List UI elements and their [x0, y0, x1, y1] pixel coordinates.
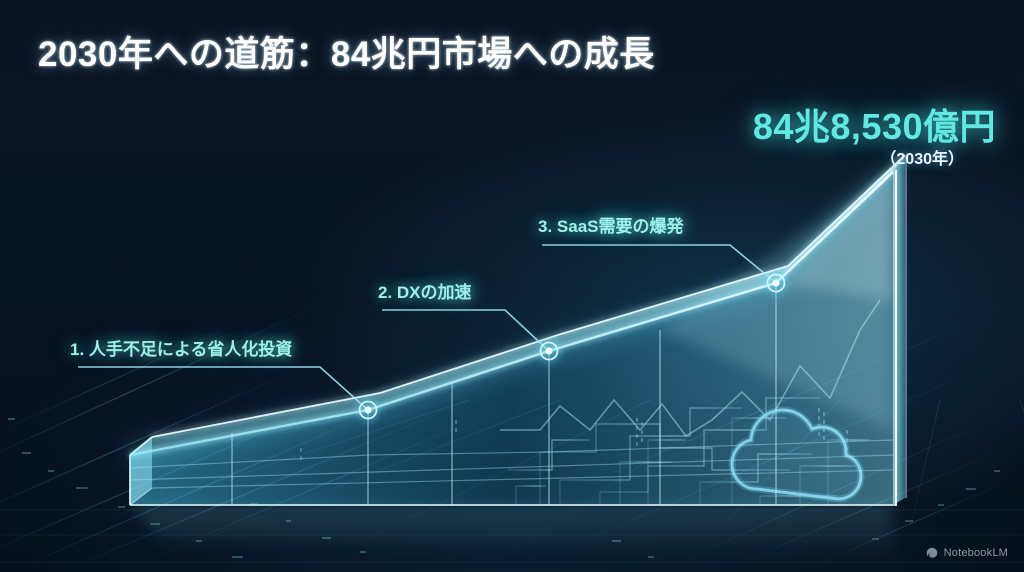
chart-reflection [130, 505, 893, 568]
annotation-1-label: 1. 人手不足による省人化投資 [70, 335, 292, 360]
annotation-3-label: 3. SaaS需要の爆発 [538, 212, 684, 237]
notebooklm-logo-icon [925, 546, 939, 560]
headline-value: 84兆8,530億円 [753, 98, 996, 150]
growth-area-chart [0, 0, 1024, 572]
slide-canvas: 2030年への道筋：84兆円市場への成長 84兆8,530億円 （2030年） … [0, 0, 1024, 572]
page-title: 2030年への道筋：84兆円市場への成長 [38, 26, 655, 77]
annotation-1: 1. 人手不足による省人化投資 [70, 335, 292, 360]
watermark-text: NotebookLM [944, 547, 1008, 559]
annotation-2-label: 2. DXの加速 [378, 278, 472, 303]
headline-year-note: （2030年） [880, 145, 964, 169]
annotation-2: 2. DXの加速 [378, 278, 472, 303]
data-node-3[interactable] [763, 270, 789, 296]
data-node-1[interactable] [355, 397, 381, 423]
annotation-3: 3. SaaS需要の爆発 [538, 212, 684, 237]
data-node-2[interactable] [536, 338, 562, 364]
watermark: NotebookLM [925, 546, 1008, 560]
